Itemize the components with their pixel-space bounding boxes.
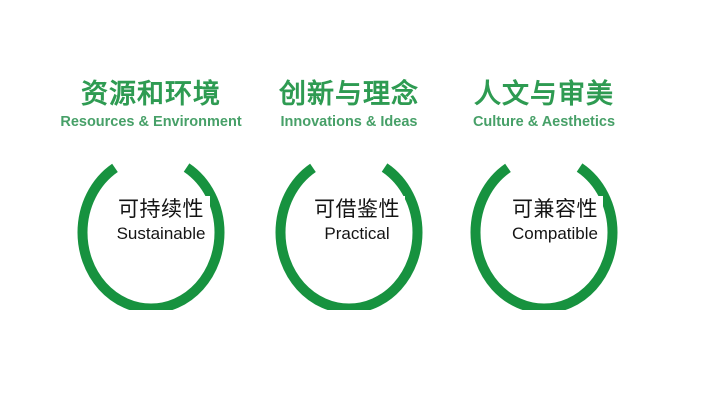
slide-canvas: 资源和环境 Resources & Environment 可持续性 Susta… (0, 0, 712, 400)
column-heading-block: 资源和环境 Resources & Environment (45, 78, 257, 132)
column-heading-en: Innovations & Ideas (243, 112, 455, 132)
concept-column-innovations: 创新与理念 Innovations & Ideas 可借鉴性 Practical (243, 0, 455, 400)
column-heading-cn: 资源和环境 (45, 78, 257, 110)
open-circle-ring-icon (458, 155, 630, 310)
column-heading-en: Culture & Aesthetics (438, 112, 650, 132)
column-heading-cn: 人文与审美 (438, 78, 650, 110)
column-heading-block: 人文与审美 Culture & Aesthetics (438, 78, 650, 132)
column-heading-block: 创新与理念 Innovations & Ideas (243, 78, 455, 132)
open-circle-ring-icon (65, 155, 237, 310)
open-circle-ring-icon (263, 155, 435, 310)
column-heading-en: Resources & Environment (45, 112, 257, 132)
column-heading-cn: 创新与理念 (243, 78, 455, 110)
concept-column-resources: 资源和环境 Resources & Environment 可持续性 Susta… (45, 0, 257, 400)
concept-column-culture: 人文与审美 Culture & Aesthetics 可兼容性 Compatib… (438, 0, 650, 400)
